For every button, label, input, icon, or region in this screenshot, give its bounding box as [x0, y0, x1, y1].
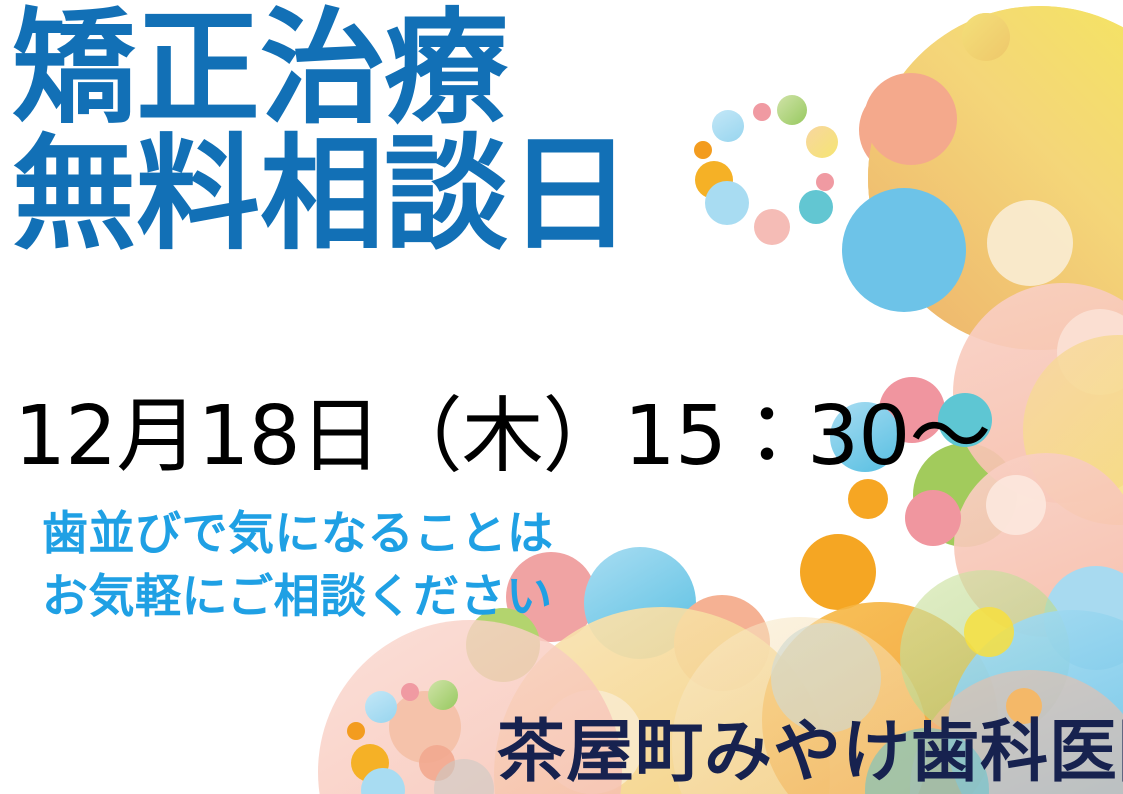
clinic-name: 茶屋町みやけ歯科医院	[497, 718, 1123, 786]
event-date-time: 12月18日（木）15：30〜	[14, 396, 990, 478]
headline-line-2: 無料相談日	[12, 132, 632, 258]
headline-line-1: 矯正治療	[12, 6, 632, 132]
poster-canvas: 矯正治療 無料相談日 12月18日（木）15：30〜 歯並びで気になることは お…	[0, 0, 1123, 794]
subtext-line-2: お気軽にご相談ください	[42, 565, 554, 628]
subtext-line-1: 歯並びで気になることは	[42, 502, 554, 565]
poster-text-layer: 矯正治療 無料相談日 12月18日（木）15：30〜 歯並びで気になることは お…	[0, 0, 1123, 794]
poster-subtext: 歯並びで気になることは お気軽にご相談ください	[42, 502, 554, 629]
poster-headline: 矯正治療 無料相談日	[12, 6, 632, 259]
